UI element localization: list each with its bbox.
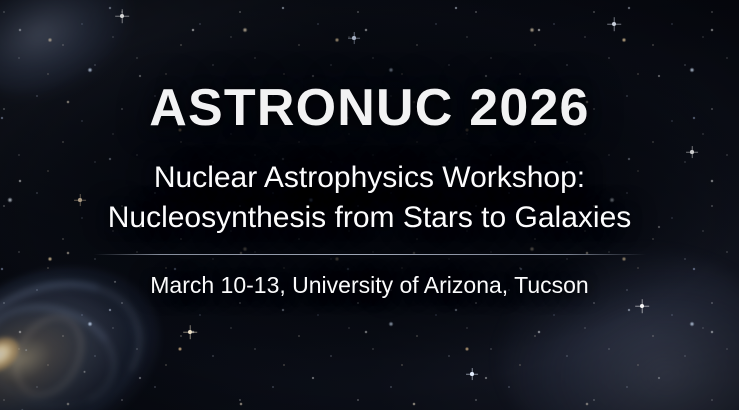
- event-subtitle: Nuclear Astrophysics Workshop: Nucleosyn…: [0, 158, 739, 237]
- divider-rule: [94, 254, 646, 255]
- event-date-location: March 10-13, University of Arizona, Tucs…: [0, 272, 739, 299]
- event-subtitle-line-1: Nuclear Astrophysics Workshop:: [0, 158, 739, 198]
- conference-banner: ASTRONUC 2026 Nuclear Astrophysics Works…: [0, 0, 739, 410]
- event-title: ASTRONUC 2026: [0, 82, 739, 134]
- banner-content: ASTRONUC 2026 Nuclear Astrophysics Works…: [0, 0, 739, 410]
- event-subtitle-line-2: Nucleosynthesis from Stars to Galaxies: [0, 198, 739, 238]
